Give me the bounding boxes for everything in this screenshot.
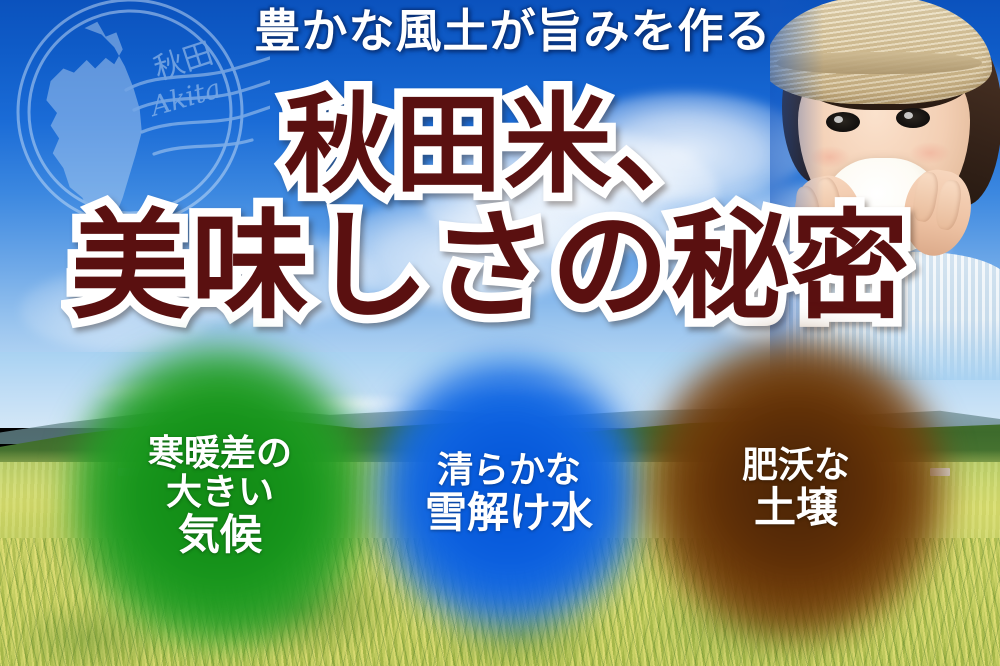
badge-climate[interactable]: 寒暖差の 大きい 気候 bbox=[70, 346, 370, 646]
badge-water-line-2: 雪解け水 bbox=[425, 490, 593, 535]
banner-subtitle: 豊かな風土が旨みを作る bbox=[0, 8, 1000, 54]
banner-headline: 秋田米、 美味しさの秘密 bbox=[0, 90, 1000, 327]
headline-line-2: 美味しさの秘密 bbox=[0, 206, 1000, 326]
badge-climate-text: 寒暖差の 大きい 気候 bbox=[148, 434, 292, 557]
badge-soil-line-1: 肥沃な bbox=[742, 446, 850, 485]
badge-water[interactable]: 清らかな 雪解け水 bbox=[374, 358, 644, 628]
badge-water-text: 清らかな 雪解け水 bbox=[425, 451, 593, 535]
badge-climate-line-1: 寒暖差の bbox=[148, 434, 292, 473]
badge-soil-text: 肥沃な 土壌 bbox=[742, 446, 850, 530]
akita-rice-promo-banner: 秋田 Akita bbox=[0, 0, 1000, 666]
feature-badges: 寒暖差の 大きい 気候 清らかな 雪解け水 肥沃な 土壌 bbox=[0, 352, 1000, 666]
headline-line-1: 秋田米、 bbox=[0, 90, 1000, 200]
badge-soil[interactable]: 肥沃な 土壌 bbox=[646, 338, 946, 638]
badge-climate-line-3: 気候 bbox=[148, 512, 292, 557]
badge-water-line-1: 清らかな bbox=[425, 451, 593, 490]
badge-climate-line-2: 大きい bbox=[148, 473, 292, 512]
badge-soil-line-2: 土壌 bbox=[742, 485, 850, 530]
